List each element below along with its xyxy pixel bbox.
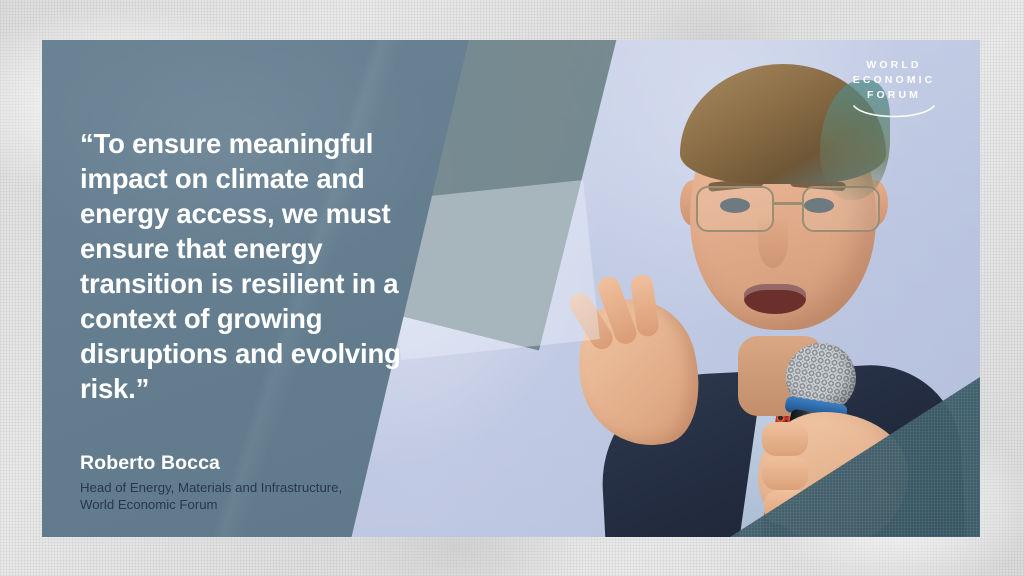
speaker-role: Head of Energy, Materials and Infrastruc… <box>80 480 430 513</box>
logo-line-economic: ECONOMIC <box>840 73 948 88</box>
quote-card: “To ensure meaningful impact on climate … <box>42 40 980 537</box>
mouth-shape <box>744 284 806 314</box>
speaker-name: Roberto Bocca <box>80 452 430 475</box>
nose-shape <box>758 216 788 268</box>
quote-text: “To ensure meaningful impact on climate … <box>80 126 410 406</box>
wef-arc-icon <box>852 104 936 121</box>
finger <box>762 422 808 456</box>
logo-line-world: WORLD <box>840 58 948 73</box>
wef-logo: WORLD ECONOMIC FORUM <box>840 58 948 121</box>
finger <box>762 456 808 490</box>
attribution: Roberto Bocca Head of Energy, Materials … <box>80 452 430 513</box>
speaker-role-line1: Head of Energy, Materials and Infrastruc… <box>80 480 342 495</box>
speaker-role-line2: World Economic Forum <box>80 497 218 512</box>
glasses-bridge <box>774 202 802 205</box>
logo-line-forum: FORUM <box>840 88 948 103</box>
